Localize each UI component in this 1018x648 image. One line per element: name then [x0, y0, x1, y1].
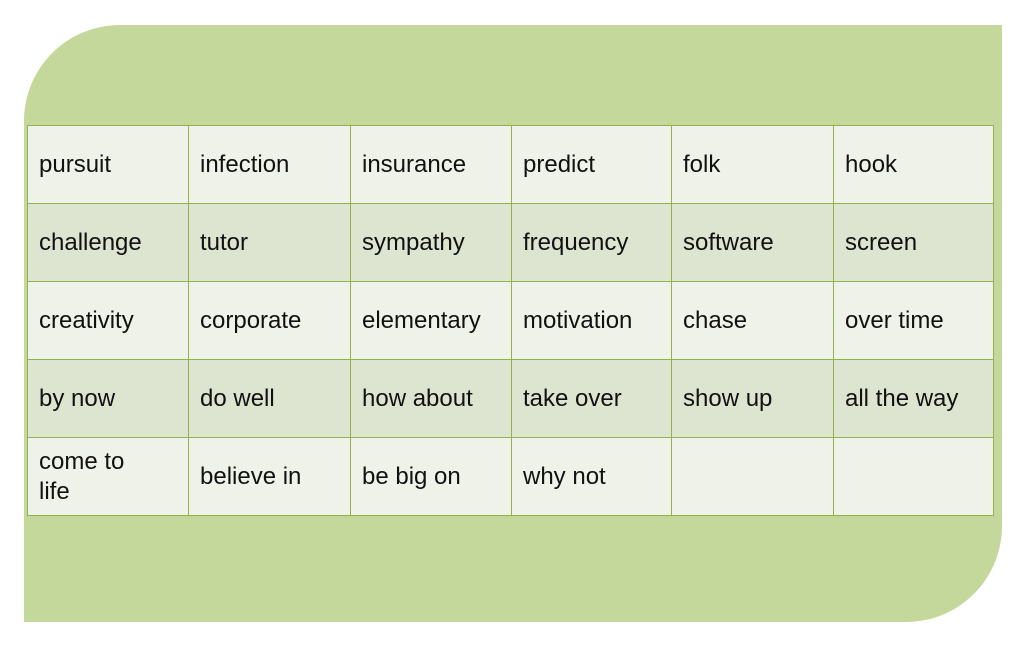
word-cell[interactable]: over time: [834, 282, 994, 360]
slide-canvas: pursuit infection insurance predict folk…: [0, 0, 1018, 648]
word-cell[interactable]: corporate: [189, 282, 351, 360]
word-cell-text: software: [683, 228, 833, 257]
word-cell[interactable]: pursuit: [28, 126, 189, 204]
word-cell[interactable]: predict: [512, 126, 672, 204]
word-cell-text: over time: [845, 306, 993, 335]
word-cell-text: frequency: [523, 228, 671, 257]
word-cell[interactable]: sympathy: [351, 204, 512, 282]
word-cell-empty[interactable]: [834, 438, 994, 516]
word-cell-text: folk: [683, 150, 833, 179]
word-cell-text: why not: [523, 462, 671, 491]
word-cell-text: challenge: [39, 228, 188, 257]
word-cell[interactable]: take over: [512, 360, 672, 438]
word-cell-text: tutor: [200, 228, 350, 257]
word-cell[interactable]: show up: [672, 360, 834, 438]
word-cell-text: chase: [683, 306, 833, 335]
word-cell-text: do well: [200, 384, 350, 413]
word-cell[interactable]: chase: [672, 282, 834, 360]
word-cell-empty[interactable]: [672, 438, 834, 516]
word-cell-text: pursuit: [39, 150, 188, 179]
word-cell[interactable]: frequency: [512, 204, 672, 282]
word-cell[interactable]: screen: [834, 204, 994, 282]
word-cell-text: take over: [523, 384, 671, 413]
word-cell[interactable]: software: [672, 204, 834, 282]
word-cell-text: screen: [845, 228, 993, 257]
word-cell-text: show up: [683, 384, 833, 413]
word-cell[interactable]: by now: [28, 360, 189, 438]
word-cell-text: infection: [200, 150, 350, 179]
word-cell-text: hook: [845, 150, 993, 179]
word-cell[interactable]: be big on: [351, 438, 512, 516]
word-cell-text: be big on: [362, 462, 511, 491]
word-cell-text: how about: [362, 384, 511, 413]
word-cell[interactable]: how about: [351, 360, 512, 438]
word-cell-text: come to life: [39, 447, 188, 506]
word-cell[interactable]: creativity: [28, 282, 189, 360]
word-cell-text: sympathy: [362, 228, 511, 257]
word-cell-text: predict: [523, 150, 671, 179]
word-cell[interactable]: all the way: [834, 360, 994, 438]
word-cell[interactable]: hook: [834, 126, 994, 204]
word-cell-text: motivation: [523, 306, 671, 335]
word-cell[interactable]: come to life: [28, 438, 189, 516]
word-cell-text: corporate: [200, 306, 350, 335]
word-cell[interactable]: challenge: [28, 204, 189, 282]
word-cell-text: by now: [39, 384, 188, 413]
table-row: creativity corporate elementary motivati…: [28, 282, 994, 360]
vocabulary-word-grid: pursuit infection insurance predict folk…: [27, 125, 994, 516]
table-row: pursuit infection insurance predict folk…: [28, 126, 994, 204]
word-grid-body: pursuit infection insurance predict folk…: [28, 126, 994, 516]
word-cell-text: elementary: [362, 306, 511, 335]
word-cell[interactable]: do well: [189, 360, 351, 438]
word-cell[interactable]: insurance: [351, 126, 512, 204]
word-cell[interactable]: motivation: [512, 282, 672, 360]
table-row: challenge tutor sympathy frequency softw…: [28, 204, 994, 282]
word-cell[interactable]: folk: [672, 126, 834, 204]
word-cell[interactable]: why not: [512, 438, 672, 516]
word-cell-text: creativity: [39, 306, 188, 335]
word-cell[interactable]: tutor: [189, 204, 351, 282]
word-cell[interactable]: believe in: [189, 438, 351, 516]
word-cell[interactable]: elementary: [351, 282, 512, 360]
table-row: come to life believe in be big on why no…: [28, 438, 994, 516]
table-row: by now do well how about take over show …: [28, 360, 994, 438]
word-cell[interactable]: infection: [189, 126, 351, 204]
word-cell-text: all the way: [845, 384, 993, 413]
word-cell-text: insurance: [362, 150, 511, 179]
word-cell-text: believe in: [200, 462, 350, 491]
